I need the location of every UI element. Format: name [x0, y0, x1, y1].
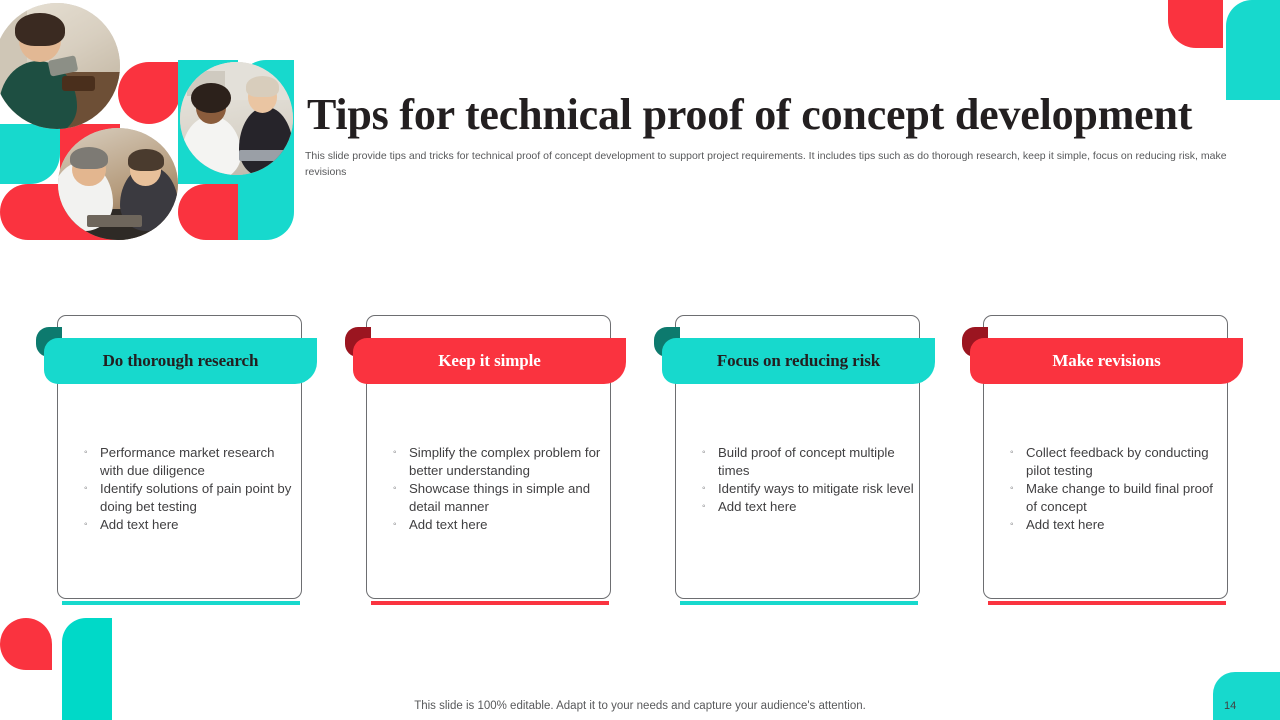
- list-item-text: Identify solutions of pain point by doin…: [100, 480, 298, 516]
- card-accent-bar: [680, 601, 918, 605]
- list-item: ◦ Add text here: [393, 516, 607, 534]
- hollow-circle-bullet-icon: ◦: [1010, 480, 1026, 516]
- photo-two-students-at-desk: [58, 128, 178, 240]
- hollow-circle-bullet-icon: ◦: [393, 480, 409, 516]
- list-item: ◦ Add text here: [702, 498, 916, 516]
- hollow-circle-bullet-icon: ◦: [1010, 444, 1026, 480]
- page-subtitle: This slide provide tips and tricks for t…: [305, 149, 1257, 181]
- list-item: ◦ Simplify the complex problem for bette…: [393, 444, 607, 480]
- hollow-circle-bullet-icon: ◦: [84, 516, 100, 534]
- collage-shape-red-6: [178, 184, 238, 240]
- list-item-text: Build proof of concept multiple times: [718, 444, 916, 480]
- card-bullet-list: ◦ Simplify the complex problem for bette…: [393, 444, 607, 534]
- card-header-banner: Keep it simple: [353, 338, 626, 384]
- card-title: Focus on reducing risk: [717, 351, 880, 371]
- page-number: 14: [1224, 700, 1236, 712]
- corner-shape-top-right-red: [1168, 0, 1223, 48]
- list-item: ◦ Showcase things in simple and detail m…: [393, 480, 607, 516]
- collage-shape-red-4: [0, 184, 60, 240]
- collage-shape-teal-1: [0, 124, 60, 184]
- decorative-photo-collage: [0, 0, 300, 245]
- card-accent-bar: [988, 601, 1226, 605]
- list-item-text: Performance market research with due dil…: [100, 444, 298, 480]
- card-bullet-list: ◦ Collect feedback by conducting pilot t…: [1010, 444, 1224, 534]
- photo-student-with-circuit-board: [0, 3, 120, 129]
- corner-shape-bottom-left-red: [0, 618, 52, 670]
- list-item: ◦ Identify solutions of pain point by do…: [84, 480, 298, 516]
- card-accent-bar: [371, 601, 609, 605]
- list-item-text: Add text here: [1026, 516, 1224, 534]
- hollow-circle-bullet-icon: ◦: [702, 480, 718, 498]
- card-bullet-list: ◦ Performance market research with due d…: [84, 444, 298, 534]
- footer-note: This slide is 100% editable. Adapt it to…: [0, 700, 1280, 712]
- list-item: ◦ Add text here: [84, 516, 298, 534]
- card-header-banner: Focus on reducing risk: [662, 338, 935, 384]
- list-item: ◦ Build proof of concept multiple times: [702, 444, 916, 480]
- card-header-banner: Make revisions: [970, 338, 1243, 384]
- list-item-text: Add text here: [100, 516, 298, 534]
- corner-shape-top-right-teal: [1226, 0, 1280, 100]
- card-title: Make revisions: [1052, 351, 1160, 371]
- hollow-circle-bullet-icon: ◦: [84, 444, 100, 480]
- card-accent-bar: [62, 601, 300, 605]
- collage-shape-teal-3: [238, 184, 294, 240]
- list-item-text: Add text here: [718, 498, 916, 516]
- page-title: Tips for technical proof of concept deve…: [307, 92, 1247, 139]
- card-title: Do thorough research: [103, 351, 259, 371]
- list-item: ◦ Identify ways to mitigate risk level: [702, 480, 916, 498]
- hollow-circle-bullet-icon: ◦: [1010, 516, 1026, 534]
- hollow-circle-bullet-icon: ◦: [393, 444, 409, 480]
- list-item-text: Identify ways to mitigate risk level: [718, 480, 916, 498]
- list-item-text: Add text here: [409, 516, 607, 534]
- list-item-text: Collect feedback by conducting pilot tes…: [1026, 444, 1224, 480]
- list-item-text: Make change to build final proof of conc…: [1026, 480, 1224, 516]
- collage-shape-red-1: [118, 62, 180, 124]
- hollow-circle-bullet-icon: ◦: [702, 444, 718, 480]
- list-item: ◦ Add text here: [1010, 516, 1224, 534]
- card-title: Keep it simple: [438, 351, 540, 371]
- photo-two-women-with-laptop: [180, 62, 293, 175]
- list-item: ◦ Performance market research with due d…: [84, 444, 298, 480]
- list-item: ◦ Make change to build final proof of co…: [1010, 480, 1224, 516]
- hollow-circle-bullet-icon: ◦: [393, 516, 409, 534]
- corner-shape-bottom-right-teal: [1213, 672, 1280, 720]
- hollow-circle-bullet-icon: ◦: [84, 480, 100, 516]
- hollow-circle-bullet-icon: ◦: [702, 498, 718, 516]
- card-bullet-list: ◦ Build proof of concept multiple times …: [702, 444, 916, 516]
- list-item-text: Simplify the complex problem for better …: [409, 444, 607, 480]
- card-header-banner: Do thorough research: [44, 338, 317, 384]
- list-item: ◦ Collect feedback by conducting pilot t…: [1010, 444, 1224, 480]
- list-item-text: Showcase things in simple and detail man…: [409, 480, 607, 516]
